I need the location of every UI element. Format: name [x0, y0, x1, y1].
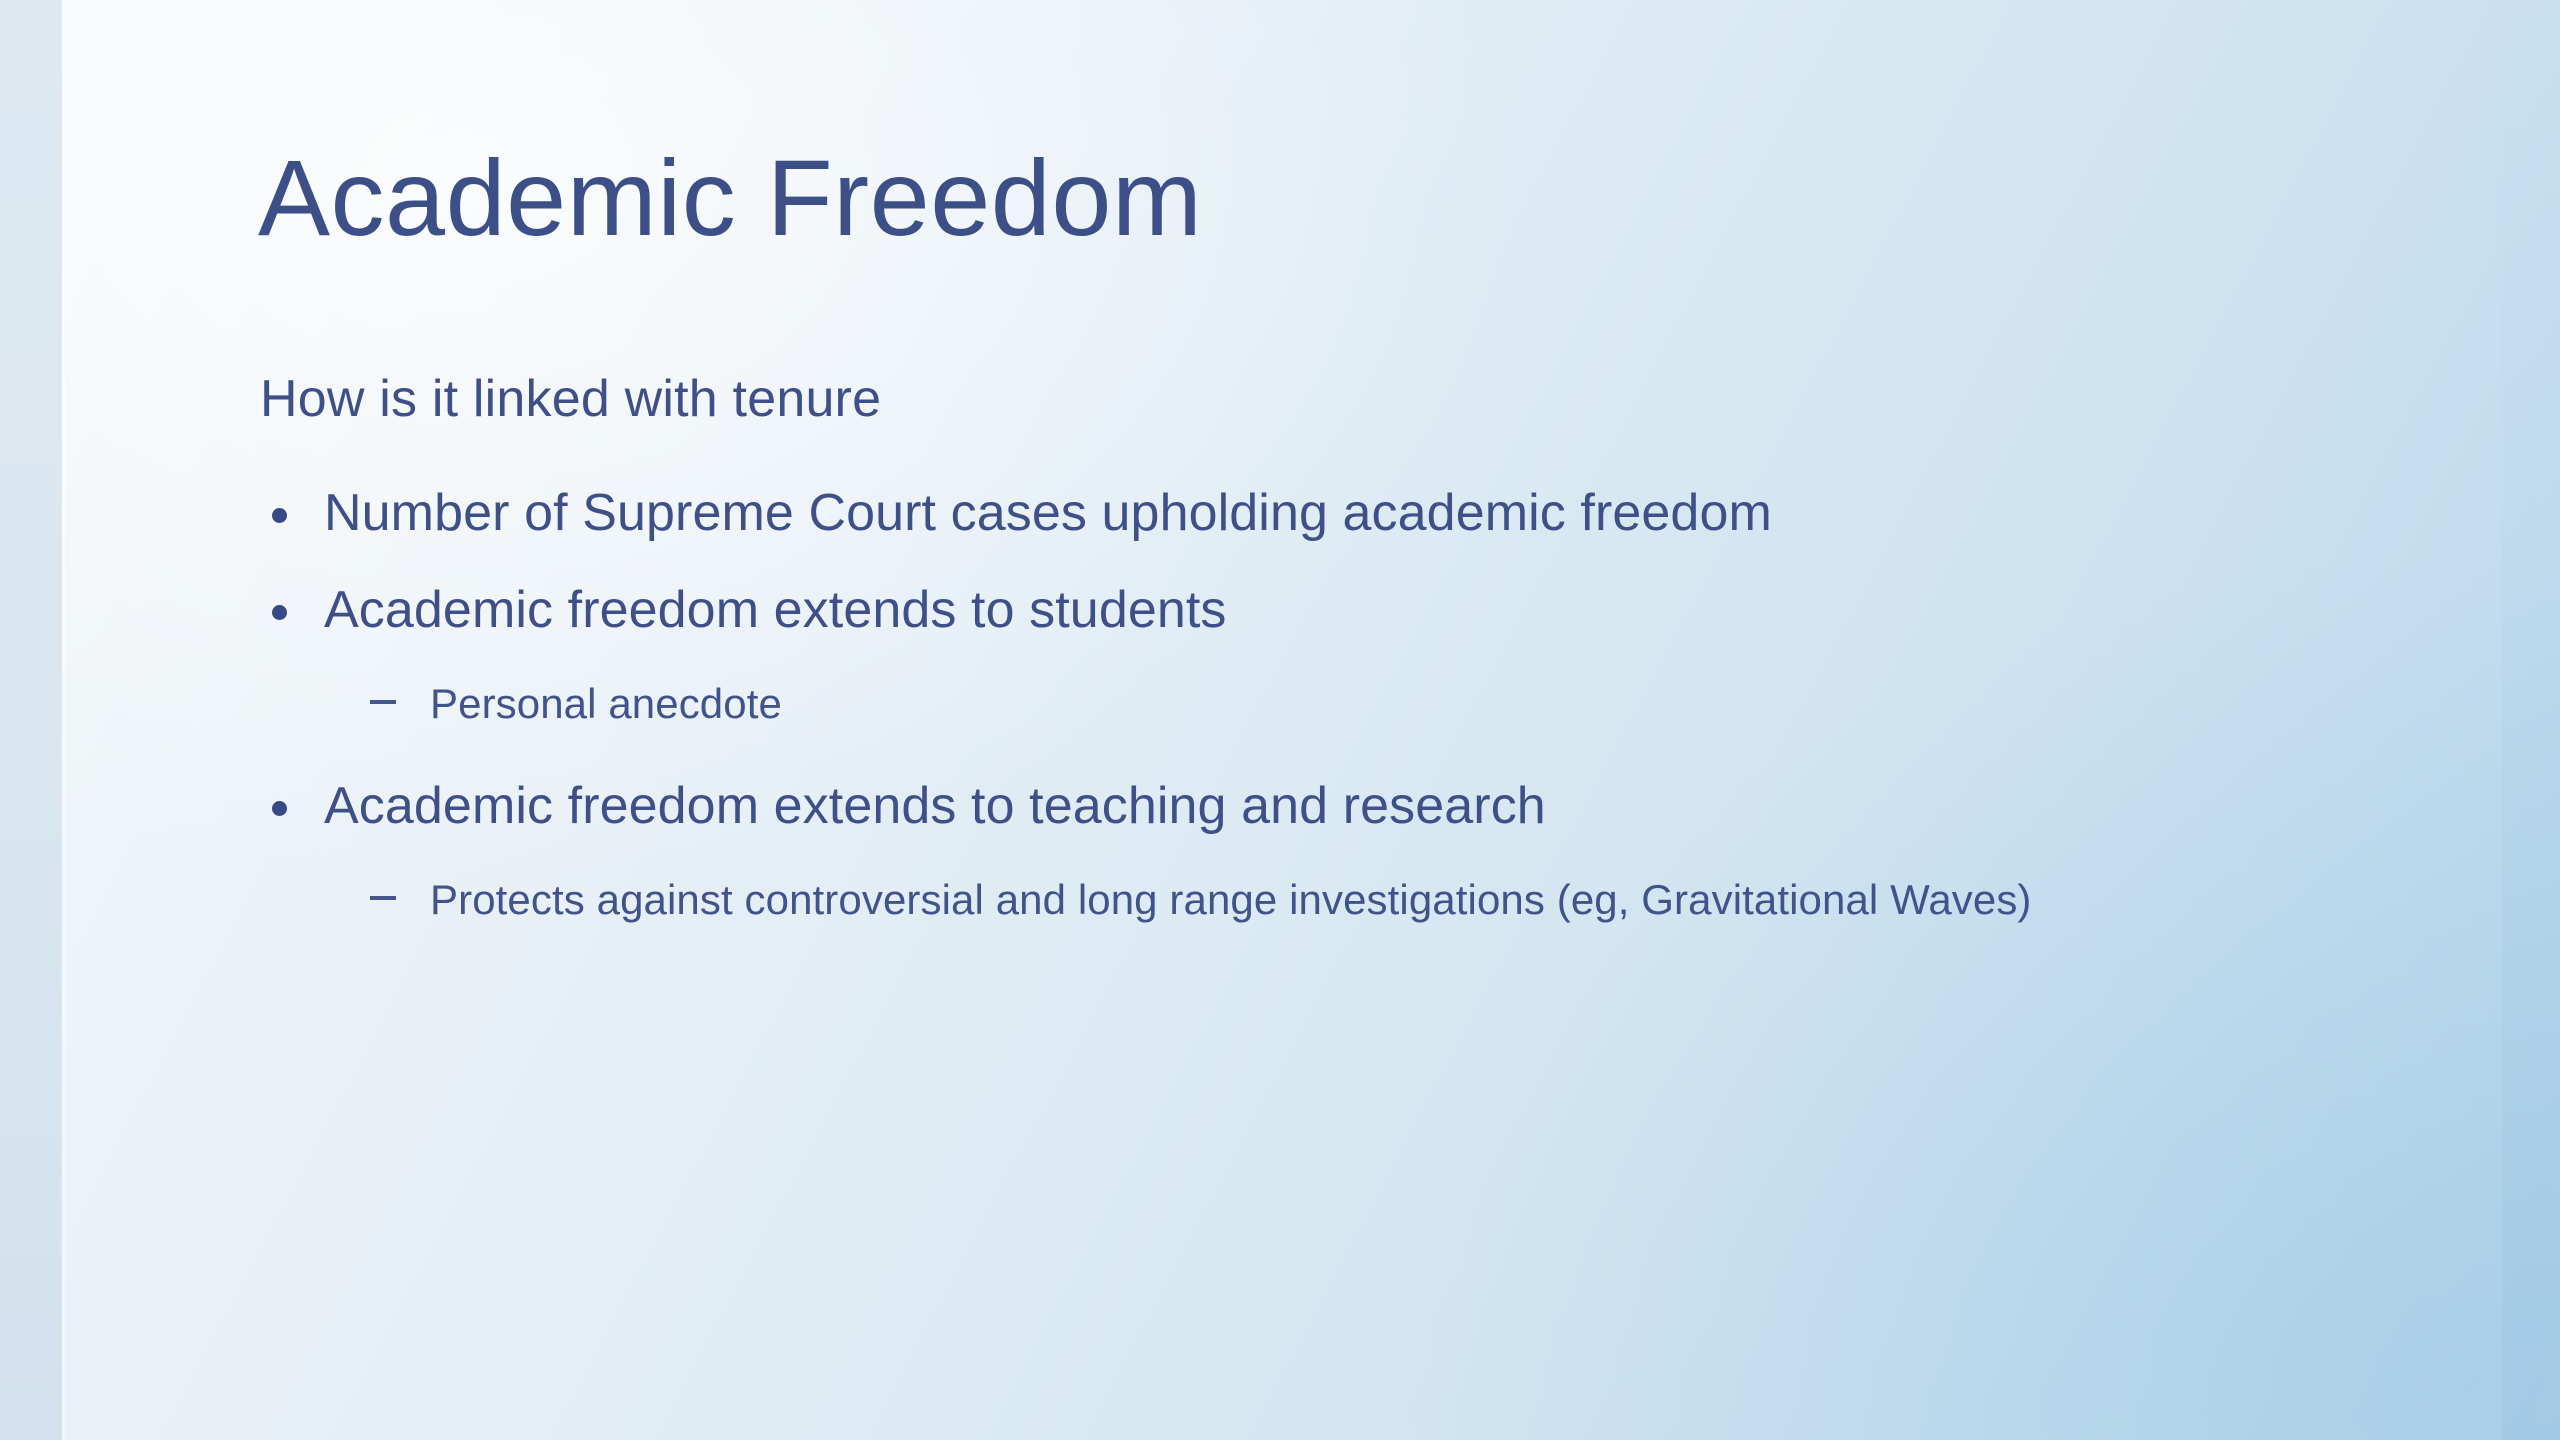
- bullet-text: Number of Supreme Court cases upholding …: [324, 484, 1772, 542]
- presentation-slide: Academic Freedom How is it linked with t…: [0, 0, 2560, 1440]
- bullet-item-level2: Personal anecdote: [258, 677, 2070, 732]
- bullet-text: Personal anecdote: [430, 680, 782, 727]
- round-bullet-icon: [272, 605, 287, 620]
- bullet-text: Academic freedom extends to students: [324, 581, 1227, 639]
- bullet-item-level1: Academic freedom extends to teaching and…: [258, 775, 2368, 838]
- bullet-item-level1: Academic freedom extends to students: [258, 579, 2368, 642]
- dash-bullet-icon: [370, 896, 396, 900]
- round-bullet-icon: [272, 801, 287, 816]
- slide-content-area: Academic Freedom How is it linked with t…: [258, 0, 2378, 1440]
- dash-bullet-icon: [370, 700, 396, 704]
- bullet-text: Academic freedom extends to teaching and…: [324, 777, 1546, 835]
- bullet-item-level1: Number of Supreme Court cases upholding …: [258, 482, 2368, 545]
- slide-title: Academic Freedom: [258, 140, 1202, 257]
- bullet-item-level2: Protects against controversial and long …: [258, 873, 2070, 928]
- left-accent-strip: [0, 0, 62, 1440]
- left-accent-strip-edge: [62, 0, 65, 1440]
- bullet-text: Protects against controversial and long …: [430, 876, 2032, 923]
- slide-bullet-list: Number of Supreme Court cases upholding …: [258, 482, 2368, 928]
- slide-subtitle: How is it linked with tenure: [260, 368, 881, 430]
- right-edge-band: [2502, 0, 2560, 1440]
- round-bullet-icon: [272, 508, 287, 523]
